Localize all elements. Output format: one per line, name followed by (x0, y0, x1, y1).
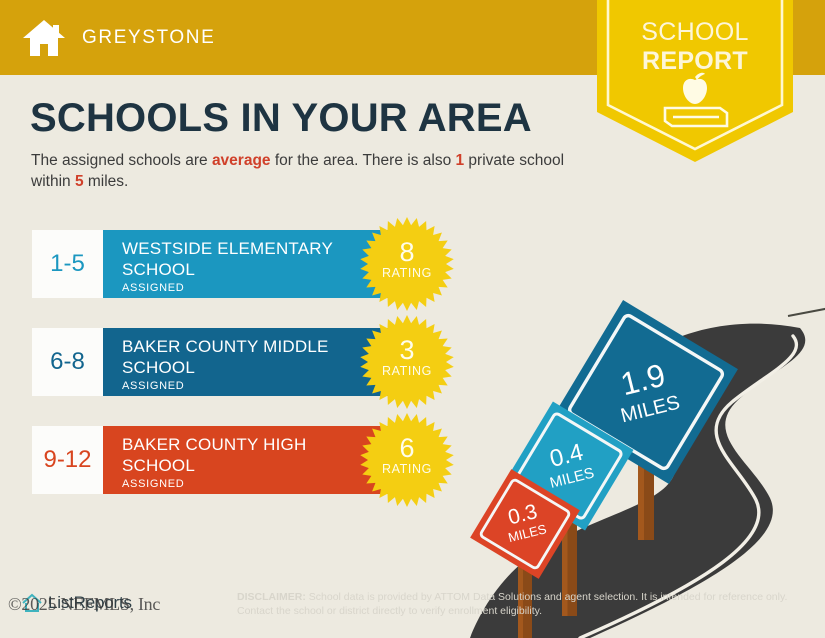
school-report-badge: SCHOOL REPORT (597, 0, 793, 162)
badge-text: SCHOOL REPORT (597, 18, 793, 76)
page-subtitle: The assigned schools are average for the… (31, 150, 591, 192)
subtitle-highlight-count: 1 (456, 152, 465, 169)
subtitle-part-1: The assigned schools are (31, 152, 212, 169)
rating-starburst: 6 RATING (359, 412, 455, 508)
grade-range-label: 9-12 (43, 446, 91, 474)
grade-range-box: 9-12 (32, 426, 103, 494)
disclaimer-text: DISCLAIMER: School data is provided by A… (237, 590, 793, 618)
copyright-watermark: ©2025 NEFMLS, Inc (8, 594, 160, 615)
school-name: BAKER COUNTY MIDDLE SCHOOL (122, 336, 352, 378)
school-name: BAKER COUNTY HIGH SCHOOL (122, 434, 352, 476)
badge-line-2: REPORT (597, 47, 793, 76)
badge-line-1: SCHOOL (597, 18, 793, 47)
subtitle-part-2: for the area. There is also (271, 152, 456, 169)
disclaimer-label: DISCLAIMER: (237, 591, 306, 603)
brand-name: GREYSTONE (82, 27, 215, 49)
subtitle-highlight-miles: 5 (75, 173, 84, 190)
grade-range-label: 1-5 (50, 250, 85, 278)
road-scene: 1.9 MILES 0.4 MILES 0.3 MILES (470, 250, 825, 638)
rating-starburst: 8 RATING (359, 216, 455, 312)
subtitle-highlight-average: average (212, 152, 271, 169)
subtitle-part-4: miles. (84, 173, 129, 190)
grade-range-box: 1-5 (32, 230, 103, 298)
grade-range-box: 6-8 (32, 328, 103, 396)
school-row[interactable]: 9-12 BAKER COUNTY HIGH SCHOOL ASSIGNED 6… (32, 426, 452, 494)
grade-range-label: 6-8 (50, 348, 85, 376)
rating-starburst: 3 RATING (359, 314, 455, 410)
disclaimer-body: School data is provided by ATTOM Data So… (237, 591, 787, 617)
schools-list: 1-5 WESTSIDE ELEMENTARY SCHOOL ASSIGNED … (32, 230, 452, 494)
school-row[interactable]: 6-8 BAKER COUNTY MIDDLE SCHOOL ASSIGNED … (32, 328, 452, 396)
school-name: WESTSIDE ELEMENTARY SCHOOL (122, 238, 352, 280)
school-report-infographic: GREYSTONE SCHOOL REPORT SCHOOLS IN YOUR … (0, 0, 825, 638)
page-title: SCHOOLS IN YOUR AREA (30, 96, 532, 141)
school-row[interactable]: 1-5 WESTSIDE ELEMENTARY SCHOOL ASSIGNED … (32, 230, 452, 298)
home-icon (22, 18, 66, 58)
